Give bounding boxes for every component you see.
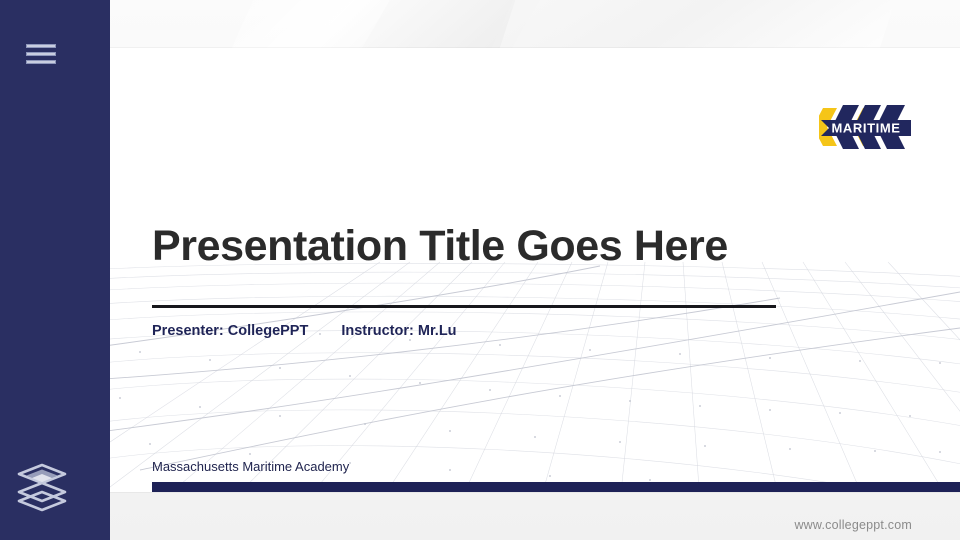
wireframe-terrain-background <box>80 232 960 492</box>
site-url: www.collegeppt.com <box>794 518 912 532</box>
presentation-viewer: MARITIME Presentation Title Goes Here Pr… <box>0 0 960 540</box>
stacked-layers-logo-icon[interactable] <box>14 456 70 512</box>
hamburger-bar-2 <box>26 52 56 56</box>
hamburger-bar-3 <box>26 60 56 64</box>
slide-title: Presentation Title Goes Here <box>152 224 728 269</box>
slide-bottom-bar <box>152 482 960 492</box>
instructor-label: Instructor: <box>341 323 414 339</box>
maritime-wordmark: MARITIME <box>831 121 900 136</box>
instructor-field: Instructor: Mr.Lu <box>341 323 456 339</box>
hamburger-menu-icon[interactable] <box>26 42 56 66</box>
slide-canvas[interactable]: MARITIME Presentation Title Goes Here Pr… <box>80 48 960 492</box>
presenter-label: Presenter: <box>152 323 224 339</box>
presenter-field: Presenter: CollegePPT <box>152 323 308 339</box>
instructor-value: Mr.Lu <box>418 323 457 339</box>
maritime-logo: MARITIME <box>819 96 915 158</box>
left-sidebar-rail <box>0 0 110 540</box>
hamburger-bar-1 <box>26 44 56 48</box>
title-divider <box>152 305 776 308</box>
presenter-value: CollegePPT <box>228 323 309 339</box>
slide-meta: Presenter: CollegePPT Instructor: Mr.Lu <box>152 323 457 339</box>
footer-organization: Massachusetts Maritime Academy <box>152 459 349 474</box>
